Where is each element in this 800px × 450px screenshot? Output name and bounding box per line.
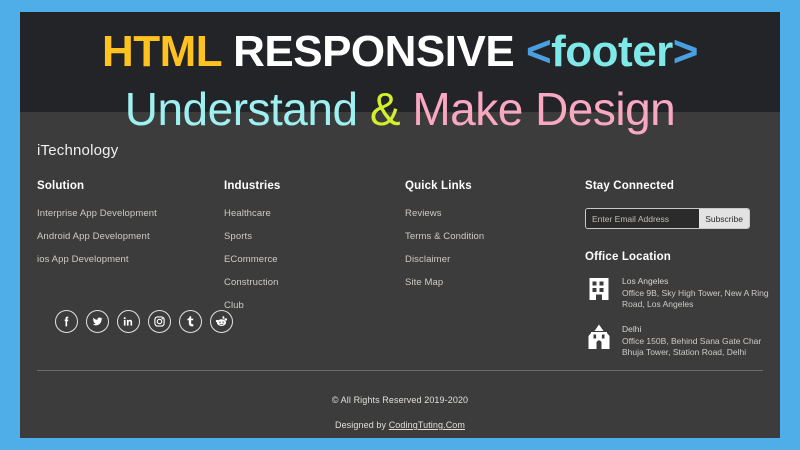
footer-link-ecommerce[interactable]: ECommerce [224, 254, 394, 265]
copyright-text: © All Rights Reserved 2019-2020 [20, 395, 780, 405]
footer-link-android-app-development[interactable]: Android App Development [37, 231, 217, 242]
column-title-solution: Solution [37, 180, 217, 192]
designed-by-line: Designed by CodingTuting.Com [20, 420, 780, 430]
hero-word-responsive: RESPONSIVE [233, 27, 514, 76]
office-text-delhi: Delhi Office 150B, Behind Sana Gate Char… [622, 323, 772, 359]
column-title-office-location: Office Location [585, 251, 770, 263]
footer-link-interprise-app-development[interactable]: Interprise App Development [37, 208, 217, 219]
hero-tag-name: footer [551, 27, 673, 76]
tumblr-icon-button[interactable] [179, 310, 202, 333]
twitter-icon-button[interactable] [86, 310, 109, 333]
hero-word-make-design: Make Design [412, 83, 675, 135]
subscribe-button[interactable]: Subscribe [699, 209, 749, 228]
footer-column-quick-links: Quick Links Reviews Terms & Condition Di… [405, 180, 585, 300]
footer-link-construction[interactable]: Construction [224, 277, 394, 288]
office-entry-los-angeles: Los Angeles Office 9B, Sky High Tower, N… [585, 275, 770, 311]
hero-bracket-open: < [526, 27, 551, 76]
footer-link-ios-app-development[interactable]: ios App Development [37, 254, 217, 265]
footer-link-club[interactable]: Club [224, 300, 394, 311]
newsletter-subscribe-form: Subscribe [585, 208, 750, 229]
office-address-delhi: Office 150B, Behind Sana Gate Char Bhuja… [622, 336, 772, 359]
social-links-row [55, 310, 233, 333]
office-city-delhi: Delhi [622, 324, 772, 334]
footer-link-reviews[interactable]: Reviews [405, 208, 585, 219]
office-address-los-angeles: Office 9B, Sky High Tower, New A Ring Ro… [622, 288, 772, 311]
temple-building-icon [585, 323, 613, 351]
footer-divider [37, 370, 763, 371]
instagram-icon [153, 315, 166, 328]
footer-column-solution: Solution Interprise App Development Andr… [37, 180, 217, 277]
reddit-icon [215, 315, 228, 328]
footer-link-sports[interactable]: Sports [224, 231, 394, 242]
linkedin-icon-button[interactable] [117, 310, 140, 333]
footer-link-site-map[interactable]: Site Map [405, 277, 585, 288]
hero-title-line-2: Understand & Make Design [20, 86, 780, 132]
hero-word-html: HTML [102, 27, 221, 76]
footer-link-terms-condition[interactable]: Terms & Condition [405, 231, 585, 242]
footer-column-industries: Industries Healthcare Sports ECommerce C… [224, 180, 394, 323]
office-entry-delhi: Delhi Office 150B, Behind Sana Gate Char… [585, 323, 770, 359]
hero-title-band: HTML RESPONSIVE <footer> Understand & Ma… [20, 12, 780, 112]
column-title-industries: Industries [224, 180, 394, 192]
footer-column-stay-connected: Stay Connected Subscribe Office Location… [585, 180, 770, 359]
column-title-stay-connected: Stay Connected [585, 180, 770, 192]
designed-by-prefix: Designed by [335, 420, 389, 430]
twitter-icon [91, 315, 104, 328]
reddit-icon-button[interactable] [210, 310, 233, 333]
hero-title-line-1: HTML RESPONSIVE <footer> [20, 30, 780, 74]
office-text-los-angeles: Los Angeles Office 9B, Sky High Tower, N… [622, 275, 772, 311]
linkedin-icon [122, 315, 135, 328]
facebook-icon-button[interactable] [55, 310, 78, 333]
footer-link-healthcare[interactable]: Healthcare [224, 208, 394, 219]
column-title-quick-links: Quick Links [405, 180, 585, 192]
tumblr-icon [184, 315, 197, 328]
screen-root: HTML RESPONSIVE <footer> Understand & Ma… [0, 0, 800, 450]
footer-body: iTechnology Solution Interprise App Deve… [20, 112, 780, 438]
hero-word-ampersand: & [370, 83, 400, 135]
footer-link-disclaimer[interactable]: Disclaimer [405, 254, 585, 265]
hero-word-understand: Understand [125, 83, 358, 135]
email-input[interactable] [586, 209, 699, 228]
designer-website-link[interactable]: CodingTuting.Com [389, 420, 465, 430]
facebook-icon [60, 315, 73, 328]
hero-bracket-close: > [673, 27, 698, 76]
footer-brand-name: iTechnology [37, 142, 118, 159]
office-building-icon [585, 275, 613, 303]
office-city-los-angeles: Los Angeles [622, 276, 772, 286]
instagram-icon-button[interactable] [148, 310, 171, 333]
